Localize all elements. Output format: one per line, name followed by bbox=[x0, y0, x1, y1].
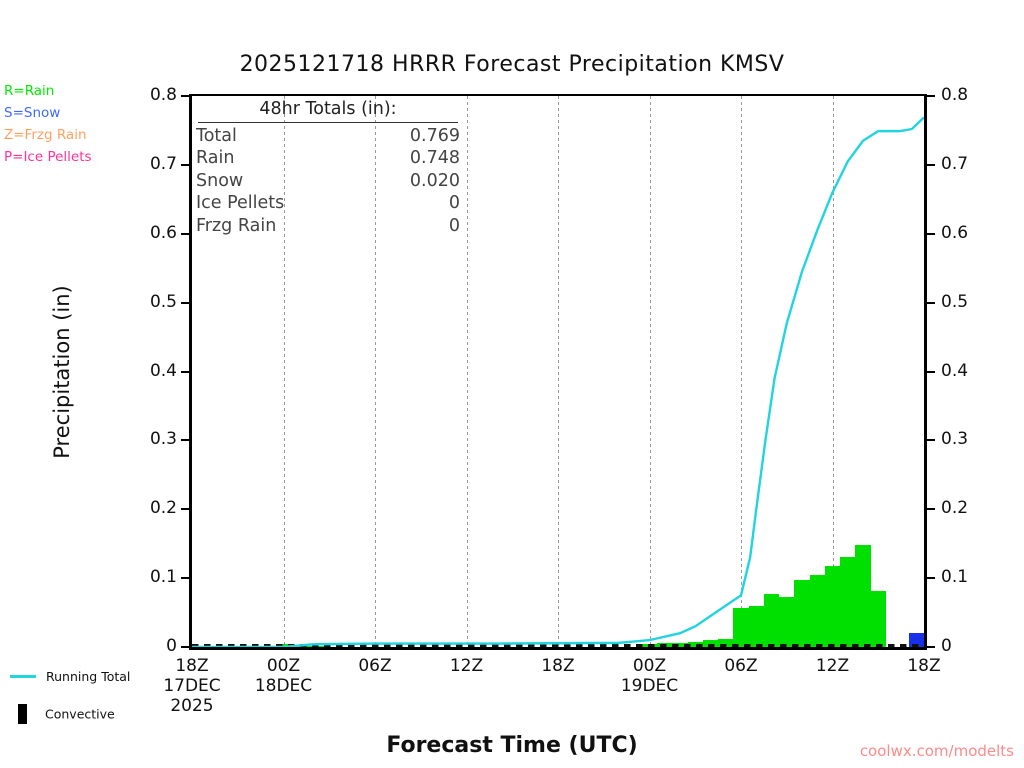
y-axis-tick-mark-right bbox=[927, 302, 935, 304]
y-axis-tick-label-left: 0.7 bbox=[117, 154, 177, 174]
totals-row-value: 0.748 bbox=[410, 147, 460, 170]
totals-row-label: Rain bbox=[196, 147, 234, 170]
y-axis-tick-mark-right bbox=[927, 164, 935, 166]
totals-rows: Total0.769Rain0.748Snow0.020Ice Pellets0… bbox=[192, 125, 464, 238]
x-tick-date: 19DEC bbox=[590, 676, 710, 696]
y-axis-tick-mark-left bbox=[181, 164, 189, 166]
y-axis-tick-mark-left bbox=[181, 302, 189, 304]
y-axis-tick-label-right: 0 bbox=[941, 636, 1001, 656]
x-tick-time: 18Z bbox=[175, 656, 208, 676]
y-axis-tick-label-left: 0 bbox=[117, 636, 177, 656]
totals-row-label: Frzg Rain bbox=[196, 215, 276, 238]
x-tick-time: 12Z bbox=[816, 656, 849, 676]
totals-header: 48hr Totals (in): bbox=[198, 98, 458, 123]
x-tick-year: 2025 bbox=[132, 696, 252, 716]
y-axis-tick-label-right: 0.3 bbox=[941, 429, 1001, 449]
legend-item-ice-pellets: P=Ice Pellets bbox=[4, 146, 92, 168]
y-axis-tick-label-left: 0.6 bbox=[117, 223, 177, 243]
convective-bar-swatch bbox=[18, 704, 27, 724]
totals-row: Rain0.748 bbox=[192, 147, 464, 170]
y-axis-tick-mark-left bbox=[181, 646, 189, 648]
totals-row-label: Snow bbox=[196, 170, 243, 193]
y-axis-tick-label-left: 0.4 bbox=[117, 361, 177, 381]
legend-running-total: Running Total bbox=[10, 668, 130, 684]
y-axis-tick-label-right: 0.1 bbox=[941, 567, 1001, 587]
x-tick-time: 18Z bbox=[541, 656, 574, 676]
x-tick-time: 00Z bbox=[267, 656, 300, 676]
y-axis-tick-label-left: 0.8 bbox=[117, 85, 177, 105]
totals-row: Ice Pellets0 bbox=[192, 192, 464, 215]
y-axis-tick-label-right: 0.7 bbox=[941, 154, 1001, 174]
totals-row-label: Ice Pellets bbox=[196, 192, 284, 215]
totals-box: 48hr Totals (in): Total0.769Rain0.748Sno… bbox=[192, 96, 464, 238]
x-tick-time: 06Z bbox=[724, 656, 757, 676]
totals-row-label: Total bbox=[196, 125, 237, 148]
x-tick-time: 06Z bbox=[358, 656, 391, 676]
x-tick-date: 18DEC bbox=[224, 676, 344, 696]
y-axis-tick-label-left: 0.5 bbox=[117, 292, 177, 312]
y-axis-tick-label-right: 0.2 bbox=[941, 498, 1001, 518]
running-total-line-swatch bbox=[10, 675, 36, 678]
x-tick-time: 18Z bbox=[907, 656, 940, 676]
y-axis-tick-mark-right bbox=[927, 439, 935, 441]
y-axis-tick-mark-left bbox=[181, 233, 189, 235]
y-axis-tick-mark-left bbox=[181, 577, 189, 579]
totals-row: Snow0.020 bbox=[192, 170, 464, 193]
totals-row: Frzg Rain0 bbox=[192, 215, 464, 238]
page-title: 2025121718 HRRR Forecast Precipitation K… bbox=[0, 52, 1024, 77]
y-axis-tick-mark-right bbox=[927, 646, 935, 648]
y-axis-title: Precipitation (in) bbox=[50, 222, 74, 522]
y-axis-tick-label-left: 0.3 bbox=[117, 429, 177, 449]
y-axis-tick-label-left: 0.2 bbox=[117, 498, 177, 518]
y-axis-tick-label-left: 0.1 bbox=[117, 567, 177, 587]
y-axis-tick-mark-right bbox=[927, 577, 935, 579]
legend-item-snow: S=Snow bbox=[4, 102, 92, 124]
convective-label: Convective bbox=[45, 707, 115, 722]
y-axis-tick-mark-right bbox=[927, 233, 935, 235]
watermark: coolwx.com/modelts bbox=[0, 742, 1014, 760]
totals-row-value: 0.769 bbox=[410, 125, 460, 148]
y-axis-tick-label-right: 0.8 bbox=[941, 85, 1001, 105]
legend-item-rain: R=Rain bbox=[4, 80, 92, 102]
y-axis-tick-mark-right bbox=[927, 95, 935, 97]
x-axis-tick-label: 18Z bbox=[864, 656, 984, 676]
y-axis-tick-mark-left bbox=[181, 439, 189, 441]
y-axis-tick-mark-right bbox=[927, 371, 935, 373]
x-tick-time: 00Z bbox=[633, 656, 666, 676]
totals-row-value: 0 bbox=[449, 192, 460, 215]
y-axis-tick-label-right: 0.4 bbox=[941, 361, 1001, 381]
y-axis-tick-mark-left bbox=[181, 95, 189, 97]
totals-row-value: 0.020 bbox=[410, 170, 460, 193]
y-axis-tick-mark-right bbox=[927, 508, 935, 510]
precip-type-legend: R=Rain S=Snow Z=Frzg Rain P=Ice Pellets bbox=[4, 80, 92, 168]
legend-convective: Convective bbox=[10, 704, 115, 724]
totals-row: Total0.769 bbox=[192, 125, 464, 148]
y-axis-tick-label-right: 0.5 bbox=[941, 292, 1001, 312]
running-total-label: Running Total bbox=[46, 669, 130, 684]
y-axis-tick-mark-left bbox=[181, 508, 189, 510]
x-tick-time: 12Z bbox=[450, 656, 483, 676]
y-axis-tick-label-right: 0.6 bbox=[941, 223, 1001, 243]
totals-row-value: 0 bbox=[449, 215, 460, 238]
y-axis-tick-mark-left bbox=[181, 371, 189, 373]
legend-item-frzg-rain: Z=Frzg Rain bbox=[4, 124, 92, 146]
